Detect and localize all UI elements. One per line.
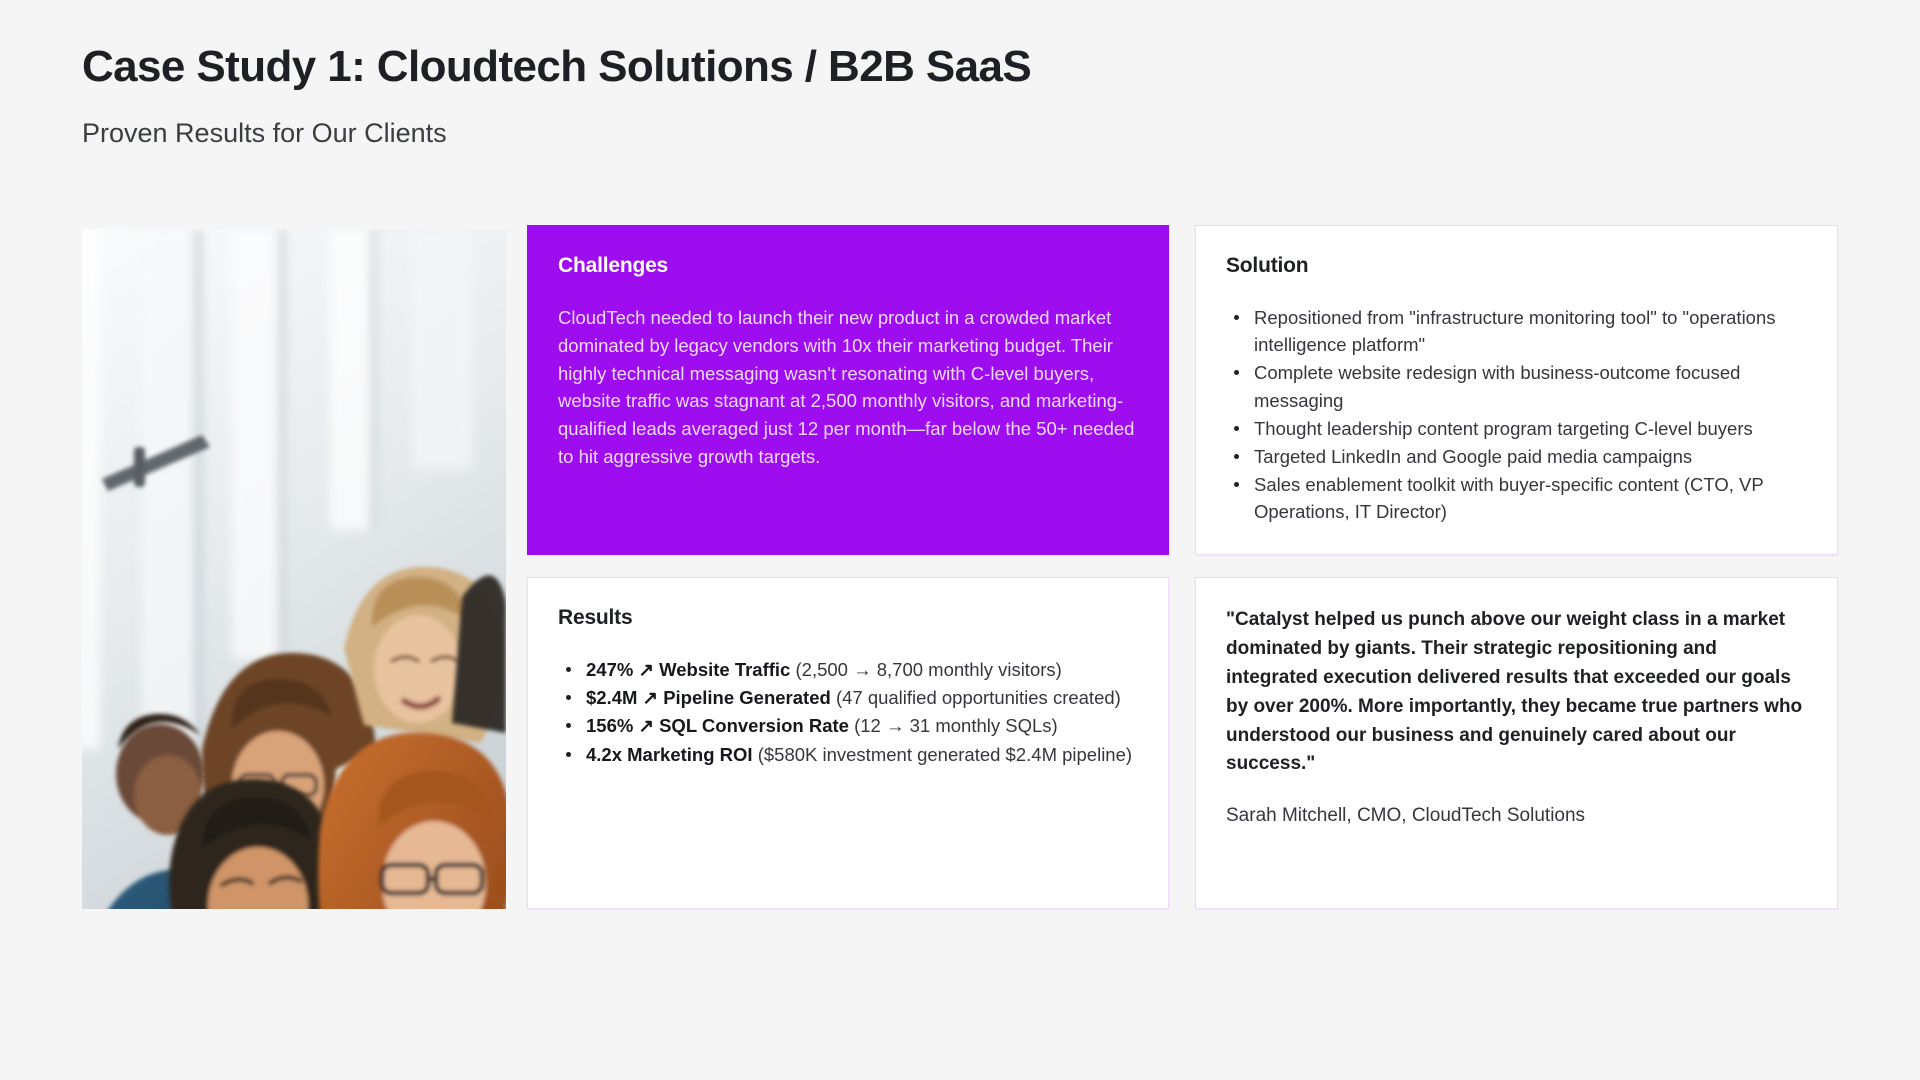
list-item: Sales enablement toolkit with buyer-spec… (1226, 471, 1807, 525)
result-metric: 247% ↗ Website Traffic (586, 659, 790, 680)
list-item: Targeted LinkedIn and Google paid media … (1226, 443, 1807, 470)
list-item: $2.4M ↗ Pipeline Generated (47 qualified… (558, 684, 1138, 711)
results-title: Results (558, 606, 1138, 630)
list-item: 4.2x Marketing ROI ($580K investment gen… (558, 741, 1138, 768)
result-detail: (47 qualified opportunities created) (836, 687, 1121, 708)
solution-card: Solution Repositioned from "infrastructu… (1195, 225, 1838, 555)
testimonial-attribution: Sarah Mitchell, CMO, CloudTech Solutions (1226, 805, 1807, 827)
list-item: Repositioned from "infrastructure monito… (1226, 304, 1807, 358)
testimonial-quote: "Catalyst helped us punch above our weig… (1226, 606, 1807, 779)
photo-illustration (82, 229, 506, 909)
list-item: 156% ↗ SQL Conversion Rate (12 → 31 mont… (558, 712, 1138, 739)
challenges-title: Challenges (558, 254, 1138, 278)
page-title: Case Study 1: Cloudtech Solutions / B2B … (82, 42, 1031, 92)
list-item: Complete website redesign with business-… (1226, 359, 1807, 413)
results-card: Results 247% ↗ Website Traffic (2,500 → … (527, 577, 1169, 909)
result-detail: (2,500 → 8,700 monthly visitors) (796, 659, 1062, 680)
list-item: Thought leadership content program targe… (1226, 415, 1807, 442)
result-metric: $2.4M ↗ Pipeline Generated (586, 687, 831, 708)
result-metric: 4.2x Marketing ROI (586, 744, 753, 765)
challenges-body: CloudTech needed to launch their new pro… (558, 304, 1138, 471)
results-bullet-list: 247% ↗ Website Traffic (2,500 → 8,700 mo… (558, 656, 1138, 768)
result-detail: ($580K investment generated $2.4M pipeli… (758, 744, 1132, 765)
testimonial-card: "Catalyst helped us punch above our weig… (1195, 577, 1838, 909)
challenges-card: Challenges CloudTech needed to launch th… (527, 225, 1169, 555)
slide-root: Case Study 1: Cloudtech Solutions / B2B … (0, 0, 1920, 1080)
list-item: 247% ↗ Website Traffic (2,500 → 8,700 mo… (558, 656, 1138, 683)
team-collaboration-photo: Diverse team of colleagues collaborating… (82, 229, 506, 909)
result-detail: (12 → 31 monthly SQLs) (854, 715, 1058, 736)
page-subtitle: Proven Results for Our Clients (82, 118, 447, 149)
solution-bullet-list: Repositioned from "infrastructure monito… (1226, 304, 1807, 526)
result-metric: 156% ↗ SQL Conversion Rate (586, 715, 849, 736)
solution-title: Solution (1226, 254, 1807, 278)
